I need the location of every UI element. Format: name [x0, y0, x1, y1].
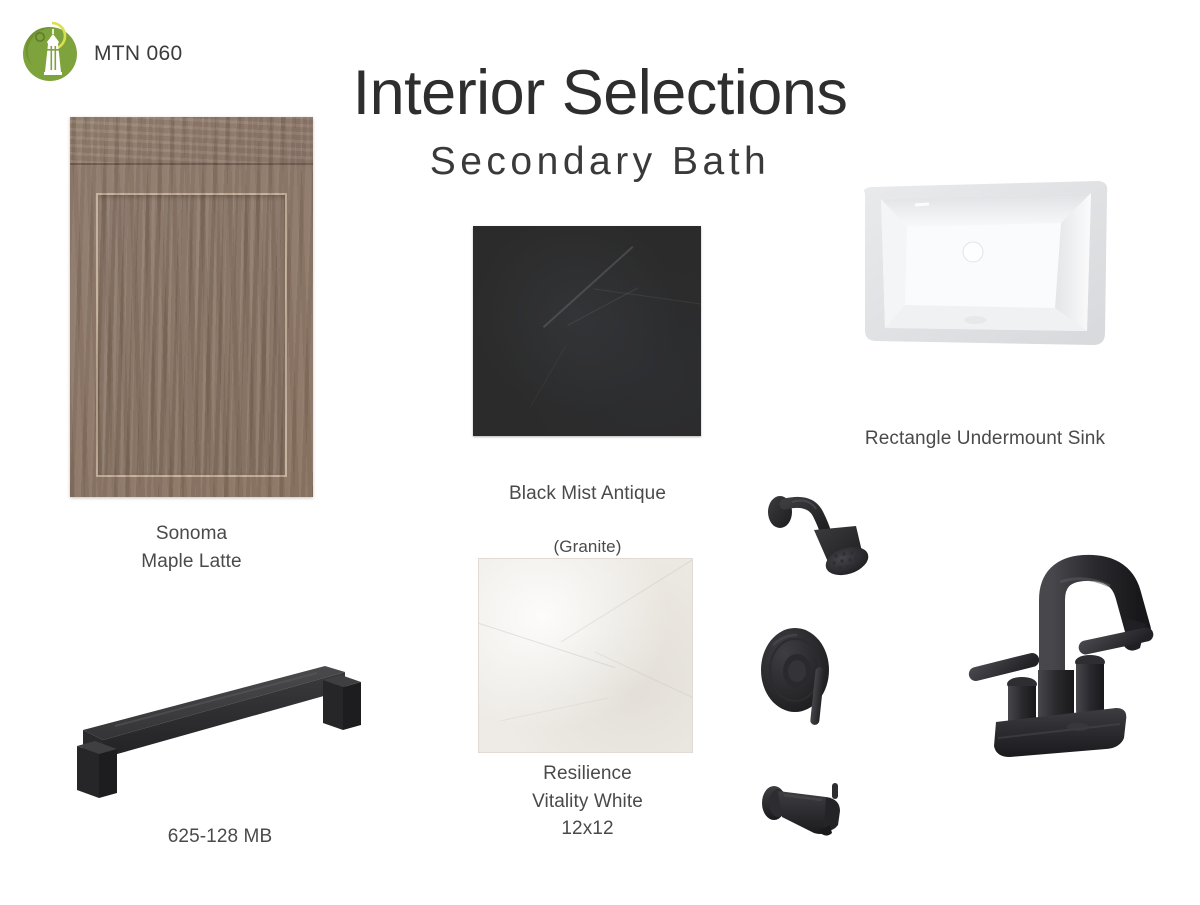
faucet-brand-mark — [1067, 723, 1089, 731]
shower-valve-trim-image — [745, 615, 855, 735]
cabinet-door-sample — [70, 117, 313, 497]
interior-selections-board: MTN 060 Interior Selections Secondary Ba… — [0, 0, 1200, 905]
pull-caption: 625-128 MB — [60, 823, 380, 851]
faucet-right-lever — [1077, 626, 1154, 655]
cabinet-drawer-front — [70, 117, 313, 165]
cabinet-bar-pull-image — [55, 650, 385, 815]
wood-grain-texture — [70, 117, 313, 163]
showerhead-arm — [785, 502, 826, 534]
page-title: Interior Selections — [0, 62, 1200, 125]
sink-drain-hole — [963, 242, 983, 262]
spout-diverter-pin — [832, 783, 838, 799]
floor-tile-swatch — [478, 558, 693, 753]
cabinet-door-front — [70, 167, 313, 497]
showerhead-image — [752, 482, 897, 592]
pull-left-leg-side — [77, 746, 99, 798]
pull-right-leg-side — [323, 680, 343, 730]
tub-spout-image — [752, 775, 867, 845]
granite-caption-sub: (Granite) — [455, 535, 720, 560]
cabinet-recessed-panel — [96, 193, 287, 477]
pull-left-leg-face — [99, 749, 117, 798]
pull-bar-face — [103, 672, 345, 758]
lavatory-faucet-image — [960, 552, 1175, 777]
pull-bar-top — [83, 666, 345, 740]
tile-caption: Resilience Vitality White 12x12 — [470, 760, 705, 843]
pull-right-leg-face — [343, 682, 361, 730]
granite-caption-main: Black Mist Antique — [455, 480, 720, 508]
wood-grain-texture — [98, 195, 285, 475]
sink-caption: Rectangle Undermount Sink — [830, 425, 1140, 453]
faucet-left-lever — [967, 651, 1040, 682]
sink-basin-floor — [905, 223, 1061, 308]
tile-marble-texture — [479, 559, 692, 752]
sink-overflow — [964, 316, 986, 324]
cabinet-caption: Sonoma Maple Latte — [70, 520, 313, 575]
undermount-sink-image — [855, 173, 1115, 358]
sink-wall-top — [881, 193, 1091, 227]
granite-mist-texture — [473, 226, 701, 436]
spout-nose — [824, 797, 840, 830]
granite-swatch — [473, 226, 701, 436]
sink-highlight — [915, 204, 929, 205]
valve-hub-inner — [788, 660, 806, 682]
